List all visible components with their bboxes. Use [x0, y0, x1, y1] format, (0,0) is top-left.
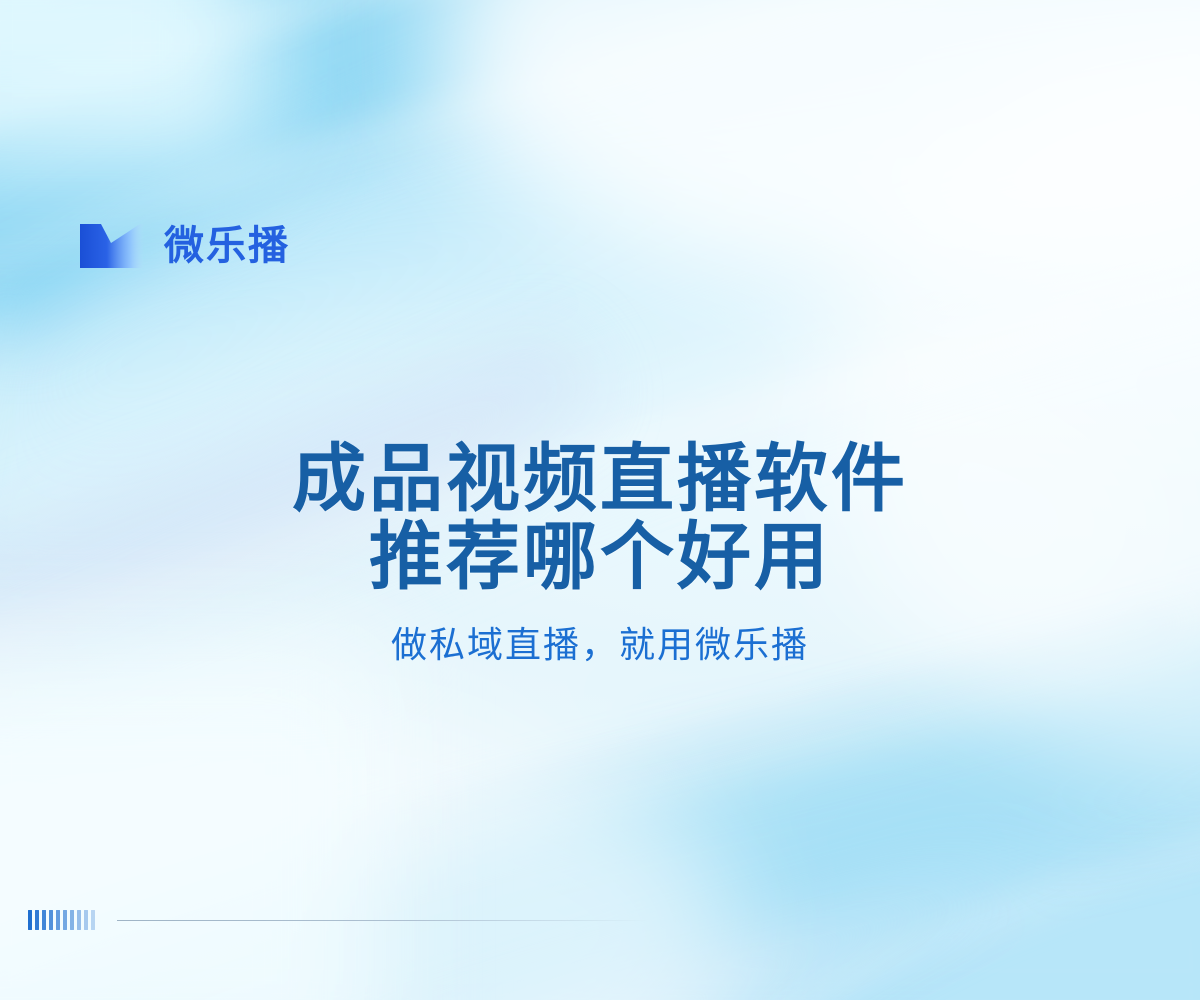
weilebo-v-mark-icon	[78, 222, 146, 270]
bar-tick	[77, 910, 81, 930]
brand-logo[interactable]: 微乐播	[78, 222, 290, 270]
poster-canvas: 微乐播 成品视频直播软件 推荐哪个好用 做私域直播，就用微乐播	[0, 0, 1200, 1000]
bar-tick	[91, 910, 95, 930]
bar-tick	[84, 910, 88, 930]
footer-divider	[117, 920, 648, 921]
footer-decoration	[28, 910, 648, 930]
bar-tick	[42, 910, 46, 930]
bar-tick	[63, 910, 67, 930]
bar-tick	[56, 910, 60, 930]
page-title-line-1: 成品视频直播软件	[292, 437, 908, 520]
bar-tick	[49, 910, 53, 930]
page-subtitle: 做私域直播，就用微乐播	[0, 623, 1200, 666]
bar-group-icon	[28, 910, 95, 930]
bar-tick	[70, 910, 74, 930]
page-title-line-2: 推荐哪个好用	[0, 518, 1200, 596]
brand-name: 微乐播	[164, 226, 290, 266]
bar-tick	[35, 910, 39, 930]
bar-tick	[28, 910, 32, 930]
page-title: 成品视频直播软件 推荐哪个好用	[0, 440, 1200, 597]
hero-block: 成品视频直播软件 推荐哪个好用 做私域直播，就用微乐播	[0, 440, 1200, 666]
